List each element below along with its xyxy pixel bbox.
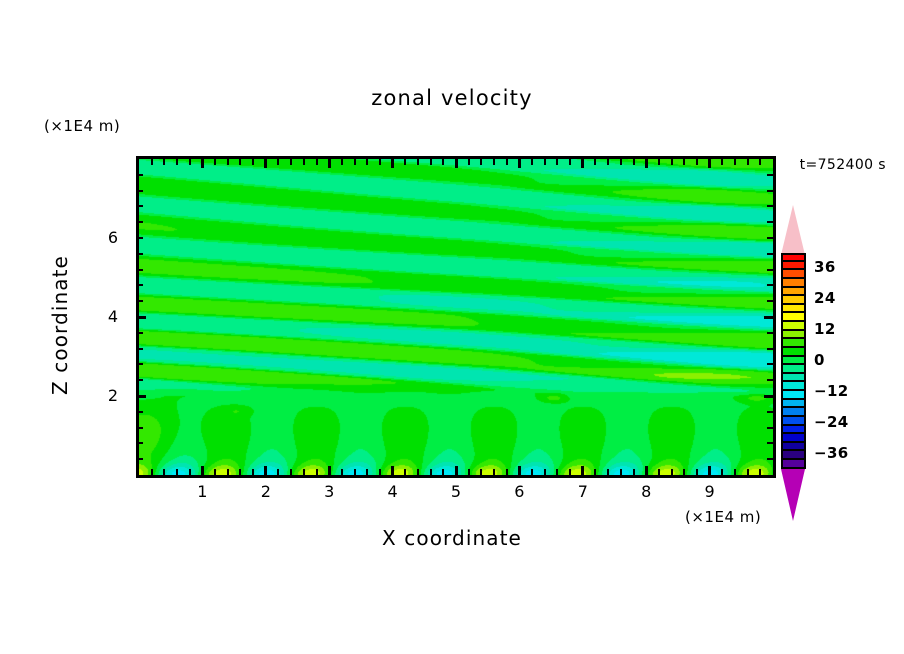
x-tick-minor [417,469,419,475]
contour-plot-area [136,156,776,478]
x-tick-minor [747,159,749,165]
x-tick-minor [151,469,153,475]
x-tick-minor [658,469,660,475]
x-tick-minor [163,469,165,475]
y-tick-label: 6 [88,228,118,247]
x-tick-minor [189,469,191,475]
colorbar-band [781,391,806,400]
colorbar-band [781,357,806,366]
colorbar-tick-label: 12 [814,320,836,338]
colorbar-band [781,374,806,383]
y-tick-major [764,395,773,398]
x-axis-unit-label: (×1E4 m) [685,508,761,526]
y-tick-major [137,395,146,398]
y-tick-minor [137,253,143,255]
x-tick-minor [683,159,685,165]
x-tick-minor [594,469,596,475]
x-tick-minor [252,469,254,475]
x-tick-minor [341,159,343,165]
y-tick-minor [137,284,143,286]
colorbar-tick-label: 36 [814,258,836,276]
x-tick-label: 5 [441,482,471,501]
contour-field-canvas [139,159,773,475]
y-tick-minor [767,427,773,429]
x-tick-minor [620,469,622,475]
y-tick-minor [767,284,773,286]
x-tick-major [264,159,267,168]
x-tick-minor [277,159,279,165]
colorbar-band [781,400,806,409]
x-tick-minor [531,469,533,475]
y-tick-minor [137,332,143,334]
x-tick-minor [696,469,698,475]
colorbar-band [781,339,806,348]
y-tick-minor [767,442,773,444]
colorbar-band [781,253,806,262]
colorbar-band [781,417,806,426]
colorbar-band [781,288,806,297]
y-tick-minor [767,348,773,350]
x-tick-minor [721,469,723,475]
colorbar-band [781,451,806,460]
y-tick-minor [767,174,773,176]
x-tick-minor [506,469,508,475]
x-tick-minor [163,159,165,165]
x-tick-minor [556,469,558,475]
x-tick-minor [404,469,406,475]
y-tick-minor [137,348,143,350]
x-tick-label: 6 [504,482,534,501]
x-tick-minor [227,159,229,165]
x-tick-minor [569,469,571,475]
colorbar-band [781,460,806,469]
x-tick-major [645,159,648,168]
x-tick-major [328,159,331,168]
x-tick-minor [227,469,229,475]
y-tick-label: 2 [88,386,118,405]
y-tick-minor [767,253,773,255]
y-tick-minor [767,190,773,192]
x-tick-major [455,159,458,168]
y-tick-minor [137,458,143,460]
colorbar-under-arrow [781,469,805,521]
x-tick-minor [176,469,178,475]
x-tick-label: 2 [251,482,281,501]
x-tick-minor [214,159,216,165]
x-tick-minor [290,469,292,475]
x-tick-minor [493,159,495,165]
x-tick-minor [277,469,279,475]
colorbar-band [781,262,806,271]
x-tick-minor [354,159,356,165]
y-tick-label: 4 [88,307,118,326]
x-tick-minor [620,159,622,165]
colorbar-band [781,443,806,452]
x-tick-major [201,466,204,475]
x-tick-major [645,466,648,475]
x-tick-minor [633,469,635,475]
x-tick-minor [354,469,356,475]
y-tick-minor [767,205,773,207]
x-tick-minor [506,159,508,165]
colorbar-band [781,313,806,322]
timestamp-annotation: t=752400 s [800,157,886,173]
x-tick-minor [759,469,761,475]
x-tick-label: 1 [187,482,217,501]
y-tick-minor [137,300,143,302]
colorbar-band [781,382,806,391]
colorbar-band [781,305,806,314]
x-tick-major [708,466,711,475]
colorbar-tick-label: 24 [814,289,836,307]
colorbar-tick-label: −12 [814,382,849,400]
colorbar-band [781,365,806,374]
x-tick-major [581,159,584,168]
y-tick-minor [137,190,143,192]
colorbar-band [781,426,806,435]
x-tick-major [708,159,711,168]
colorbar-over-arrow [781,205,805,255]
colorbar-band [781,296,806,305]
x-tick-minor [747,469,749,475]
x-tick-minor [366,469,368,475]
y-tick-minor [137,363,143,365]
x-tick-minor [239,469,241,475]
x-tick-minor [696,159,698,165]
x-tick-minor [176,159,178,165]
x-tick-minor [683,469,685,475]
x-tick-minor [468,469,470,475]
x-tick-label: 3 [314,482,344,501]
x-tick-major [391,159,394,168]
colorbar-band [781,279,806,288]
y-axis-unit-label: (×1E4 m) [44,117,120,135]
x-tick-minor [442,159,444,165]
x-tick-label: 7 [568,482,598,501]
x-tick-minor [430,159,432,165]
y-tick-major [764,316,773,319]
x-tick-minor [151,159,153,165]
x-tick-minor [607,159,609,165]
y-tick-minor [767,221,773,223]
x-tick-minor [556,159,558,165]
colorbar-band [781,348,806,357]
y-tick-minor [137,221,143,223]
x-tick-major [455,466,458,475]
x-tick-minor [189,159,191,165]
y-tick-major [137,316,146,319]
y-tick-minor [137,269,143,271]
y-tick-minor [767,300,773,302]
x-tick-minor [480,469,482,475]
x-tick-minor [607,469,609,475]
x-tick-minor [214,469,216,475]
y-tick-minor [137,205,143,207]
x-tick-minor [671,469,673,475]
x-tick-minor [290,159,292,165]
x-tick-minor [379,469,381,475]
y-tick-minor [137,379,143,381]
y-tick-minor [767,269,773,271]
x-tick-minor [480,159,482,165]
x-tick-minor [759,159,761,165]
y-tick-minor [767,379,773,381]
x-tick-minor [544,469,546,475]
x-tick-minor [430,469,432,475]
x-tick-minor [379,159,381,165]
y-tick-minor [137,427,143,429]
colorbar-band [781,331,806,340]
colorbar-band [781,408,806,417]
x-tick-minor [633,159,635,165]
y-tick-minor [137,411,143,413]
x-tick-minor [658,159,660,165]
x-axis-title: X coordinate [0,526,904,550]
x-tick-minor [734,159,736,165]
colorbar-band [781,322,806,331]
x-tick-major [391,466,394,475]
x-tick-major [328,466,331,475]
y-tick-minor [767,363,773,365]
x-tick-minor [721,159,723,165]
y-axis-title: Z coordinate [48,205,72,445]
y-tick-minor [137,237,143,239]
x-tick-minor [734,469,736,475]
x-tick-minor [544,159,546,165]
x-tick-label: 9 [695,482,725,501]
x-tick-major [518,466,521,475]
x-tick-minor [671,159,673,165]
x-tick-minor [569,159,571,165]
colorbar-band [781,270,806,279]
x-tick-major [518,159,521,168]
x-tick-major [264,466,267,475]
x-tick-minor [442,469,444,475]
x-tick-label: 8 [631,482,661,501]
x-tick-minor [303,469,305,475]
y-tick-minor [137,174,143,176]
x-tick-major [581,466,584,475]
colorbar-tick-label: −36 [814,444,849,462]
x-tick-minor [252,159,254,165]
x-tick-minor [594,159,596,165]
x-tick-minor [417,159,419,165]
x-tick-minor [531,159,533,165]
y-tick-minor [137,442,143,444]
y-tick-minor [767,411,773,413]
x-tick-minor [404,159,406,165]
y-tick-minor [767,237,773,239]
x-tick-minor [239,159,241,165]
x-tick-minor [316,469,318,475]
y-tick-minor [767,458,773,460]
x-tick-minor [303,159,305,165]
x-tick-label: 4 [378,482,408,501]
x-tick-minor [468,159,470,165]
x-tick-major [201,159,204,168]
x-tick-minor [341,469,343,475]
x-tick-minor [493,469,495,475]
colorbar[interactable] [781,253,806,469]
colorbar-band [781,434,806,443]
x-tick-minor [366,159,368,165]
page-title: zonal velocity [0,86,904,110]
colorbar-tick-label: 0 [814,351,825,369]
y-tick-minor [767,332,773,334]
colorbar-tick-label: −24 [814,413,849,431]
x-tick-minor [316,159,318,165]
